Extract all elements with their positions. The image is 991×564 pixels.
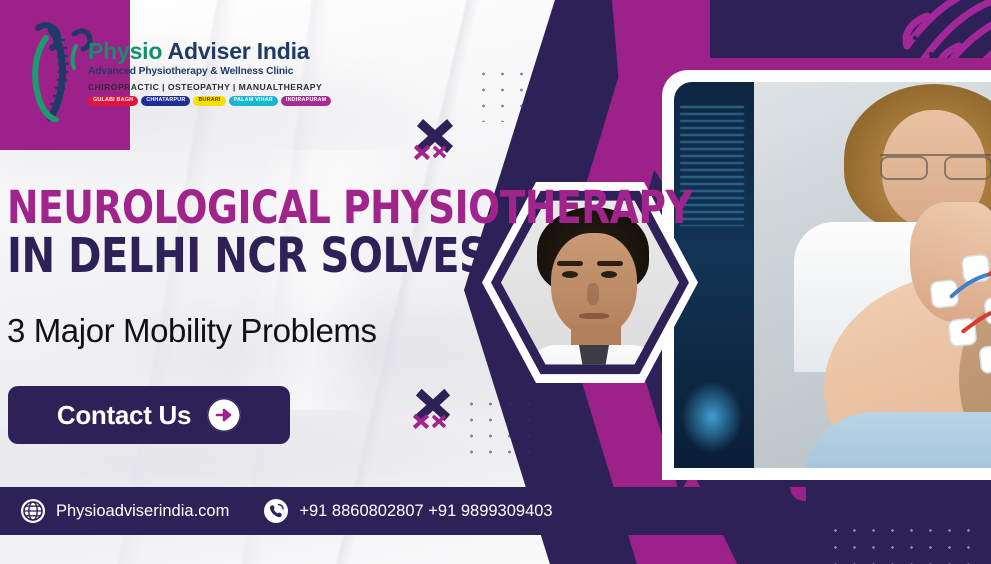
location-badge: BURARI — [193, 96, 225, 106]
contact-us-button[interactable]: Contact Us — [8, 386, 290, 444]
logo-title-part2: Adviser India — [162, 38, 309, 64]
cross-decoration-small — [431, 413, 447, 429]
location-badge: GULABI BAGH — [88, 96, 138, 106]
clinic-logo[interactable]: Physio Adviser India Advanced Physiother… — [28, 18, 288, 124]
cross-decoration-small — [412, 412, 430, 430]
headline-block: NEUROLOGICAL PHYSIOTHERAPY IN DELHI NCR … — [7, 186, 527, 279]
headline-line-2: IN DELHI NCR SOLVES — [7, 233, 491, 280]
contact-us-label: Contact Us — [57, 400, 191, 431]
location-badge: INDIRAPURAM — [281, 96, 332, 106]
arrow-right-icon — [207, 398, 241, 432]
logo-title-part1: Physio — [88, 38, 162, 64]
globe-icon — [20, 498, 46, 524]
location-badge: PALAM VIHAR — [229, 96, 278, 106]
headline-subline: 3 Major Mobility Problems — [7, 312, 377, 350]
logo-subtitle: Advanced Physiotherapy & Wellness Clinic — [88, 66, 288, 77]
cross-decoration-small — [413, 143, 431, 161]
website-contact[interactable]: Physioadviserindia.com — [20, 498, 229, 524]
phone-text: +91 8860802807 +91 9899309403 — [299, 502, 552, 521]
logo-services: CHIROPRACTIC | OSTEOPATHY | MANUALTHERAP… — [88, 82, 300, 92]
photo-therapist-glasses — [880, 154, 991, 176]
location-badge: CHHATARPUR — [141, 96, 190, 106]
spine-silhouette-logo-icon — [28, 18, 94, 122]
phone-contact[interactable]: +91 8860802807 +91 9899309403 — [263, 498, 552, 524]
website-text: Physioadviserindia.com — [56, 502, 229, 521]
cross-decoration-small — [432, 144, 447, 159]
treatment-photo — [674, 82, 991, 468]
promotional-banner: Physio Adviser India Advanced Physiother… — [0, 0, 991, 564]
treatment-photo-frame — [662, 70, 991, 480]
logo-title: Physio Adviser India — [88, 40, 288, 63]
phone-icon — [263, 498, 289, 524]
headline-line-1: NEUROLOGICAL PHYSIOTHERAPY — [7, 186, 491, 230]
footer-dot-grid — [826, 522, 986, 564]
logo-location-badges: GULABI BAGH CHHATARPUR BURARI PALAM VIHA… — [88, 96, 288, 106]
dot-grid-decoration-bottom — [462, 396, 540, 466]
dot-grid-decoration-top — [474, 66, 536, 122]
